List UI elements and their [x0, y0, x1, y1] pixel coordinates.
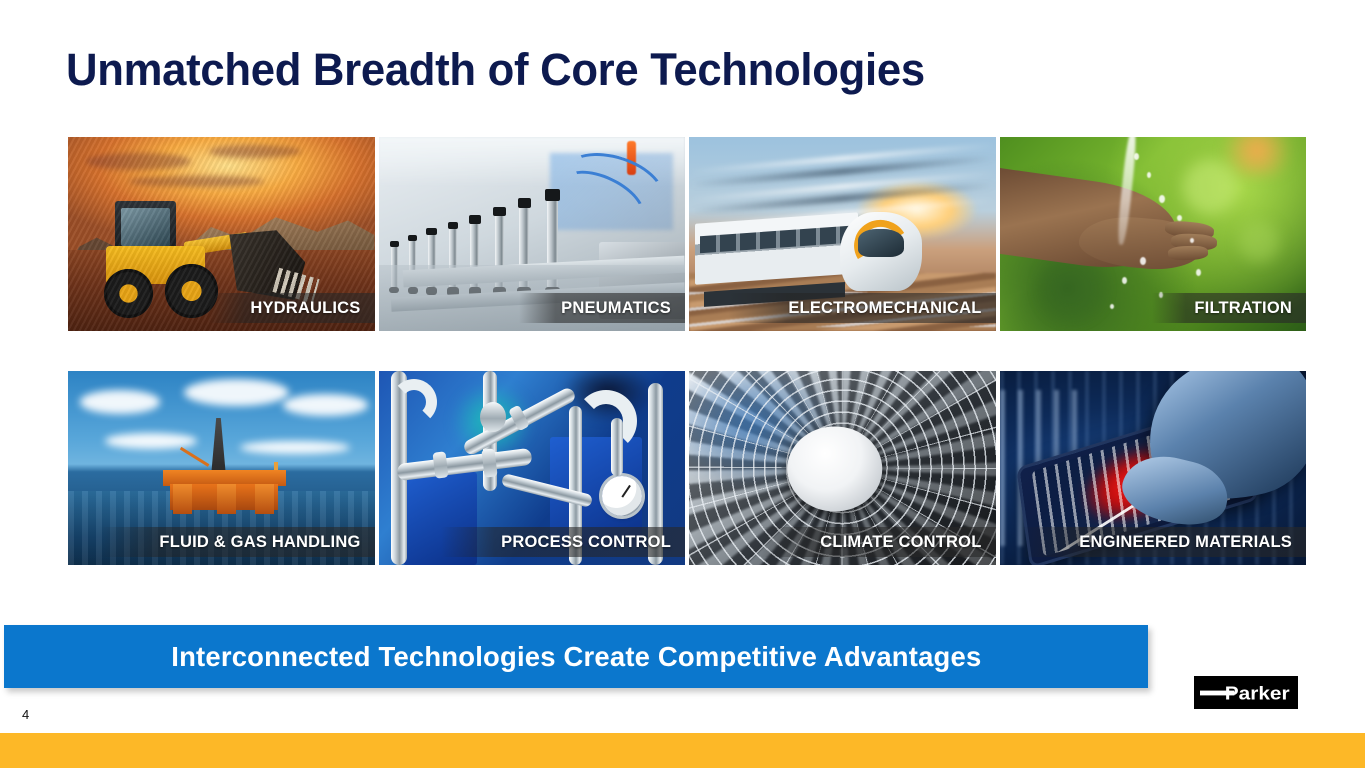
highlight-banner: Interconnected Technologies Create Compe… [4, 625, 1148, 688]
tile-label: ELECTROMECHANICAL [728, 293, 995, 323]
parker-logo: Parker [1194, 676, 1298, 709]
pressure-gauge [602, 476, 642, 516]
tile-label: CLIMATE CONTROL [760, 527, 995, 557]
tile-row-2: FLUID & GAS HANDLING [68, 371, 1306, 565]
banner-text: Interconnected Technologies Create Compe… [171, 641, 981, 673]
tile-process-control[interactable]: PROCESS CONTROL [379, 371, 686, 565]
tile-row-1: HYDRAULICS [68, 137, 1306, 331]
oil-rig [160, 418, 289, 519]
tile-label: FILTRATION [1152, 293, 1306, 323]
svg-text:Parker: Parker [1225, 682, 1290, 703]
train [695, 207, 922, 300]
tile-electromechanical[interactable]: ELECTROMECHANICAL [689, 137, 996, 331]
fan-hub [787, 427, 882, 512]
tile-label: PNEUMATICS [519, 293, 685, 323]
page-number: 4 [22, 707, 29, 722]
tile-label: HYDRAULICS [208, 293, 374, 323]
tile-engineered-materials[interactable]: ENGINEERED MATERIALS [1000, 371, 1307, 565]
slide: Unmatched Breadth of Core Technologies [0, 0, 1365, 768]
tile-label: ENGINEERED MATERIALS [1019, 527, 1306, 557]
tile-hydraulics[interactable]: HYDRAULICS [68, 137, 375, 331]
tile-climate-control[interactable]: CLIMATE CONTROL [689, 371, 996, 565]
tile-filtration[interactable]: FILTRATION [1000, 137, 1307, 331]
footer-bar [0, 733, 1365, 768]
tile-pneumatics[interactable]: PNEUMATICS [379, 137, 686, 331]
technology-tile-grid: HYDRAULICS [68, 137, 1306, 565]
tile-fluid-gas-handling[interactable]: FLUID & GAS HANDLING [68, 371, 375, 565]
tile-label: FLUID & GAS HANDLING [99, 527, 374, 557]
tile-label: PROCESS CONTROL [441, 527, 685, 557]
page-title: Unmatched Breadth of Core Technologies [66, 44, 925, 96]
